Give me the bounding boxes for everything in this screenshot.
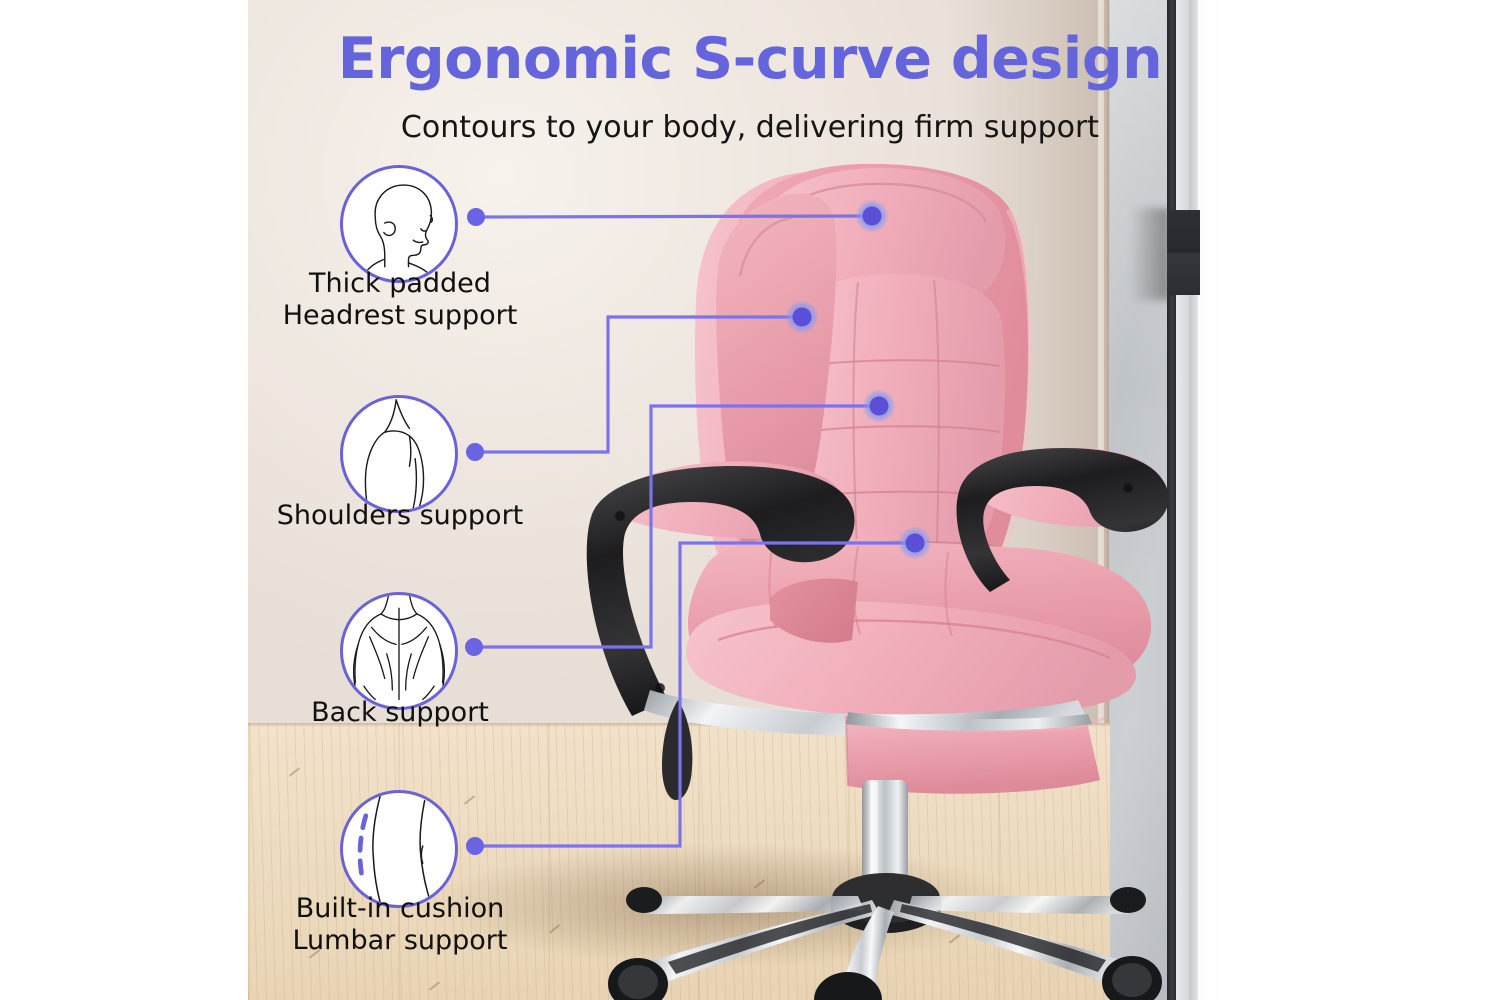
callout-shoulders-caption: Shoulders support [155, 500, 645, 532]
head-profile-icon [340, 165, 458, 283]
callout-lumbar-caption: Built-in cushion Lumbar support [170, 893, 630, 957]
infographic-canvas: Ergonomic S-curve design Contours to you… [0, 0, 1500, 1000]
callout-headrest-line2: Headrest support [170, 300, 630, 332]
shoulders-icon [340, 395, 458, 513]
callout-lumbar-line1: Built-in cushion [170, 893, 630, 925]
callout-back-line1: Back support [170, 697, 630, 729]
page-subtitle: Contours to your body, delivering firm s… [0, 110, 1500, 145]
callout-lumbar-line2: Lumbar support [170, 925, 630, 957]
callout-headrest-caption: Thick padded Headrest support [170, 268, 630, 332]
callout-headrest-line1: Thick padded [170, 268, 630, 300]
callout-back-caption: Back support [170, 697, 630, 729]
page-title: Ergonomic S-curve design [0, 30, 1500, 90]
callout-shoulders-line1: Shoulders support [155, 500, 645, 532]
lumbar-curve-icon [340, 790, 458, 908]
back-torso-icon [340, 592, 458, 710]
